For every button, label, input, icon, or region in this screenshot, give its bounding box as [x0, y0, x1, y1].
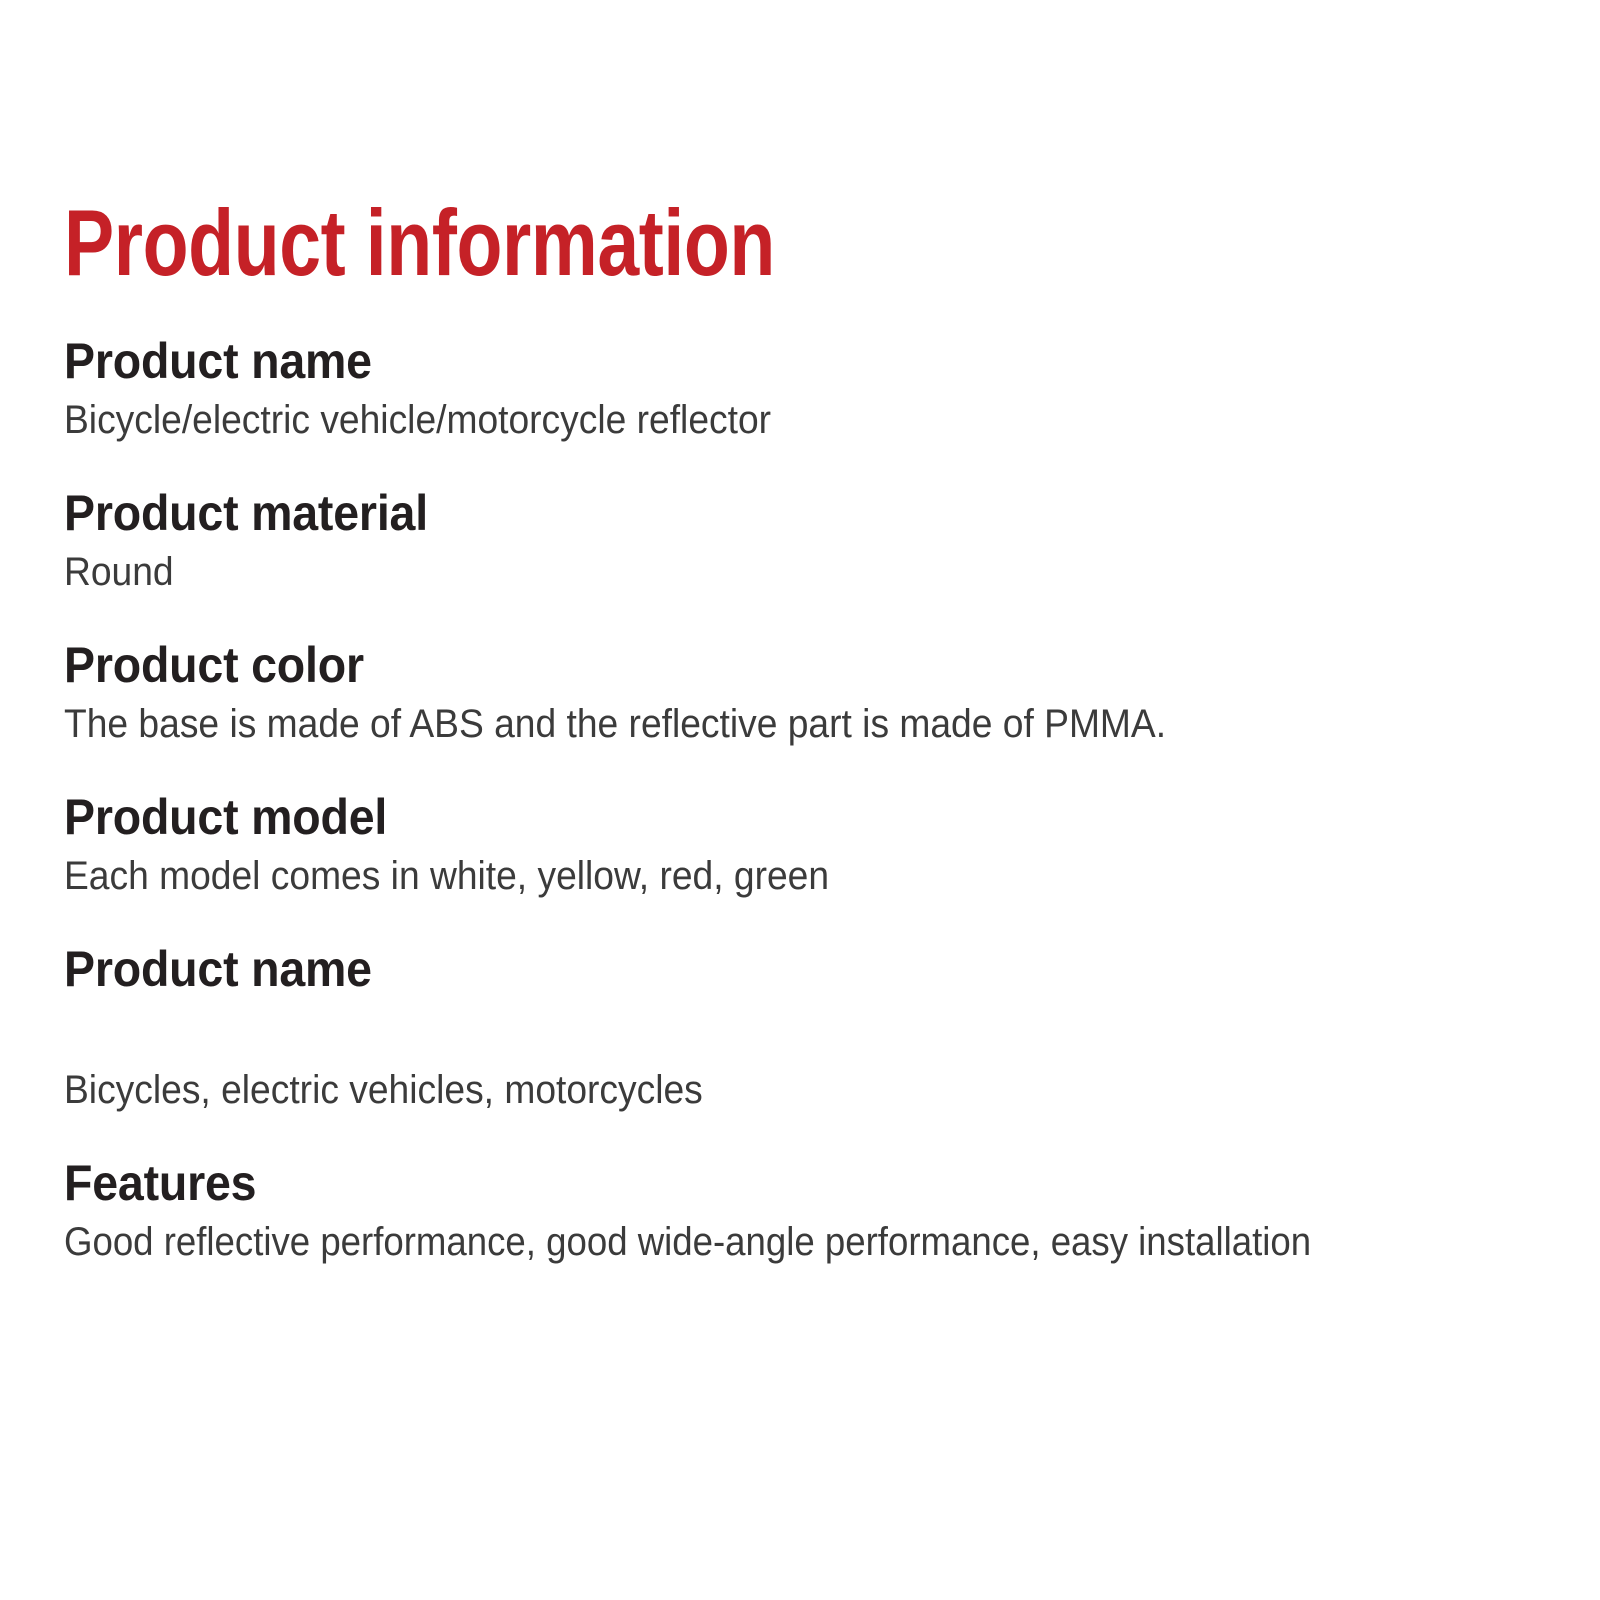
content-container: Product information Product name Bicycle… [64, 196, 1544, 1266]
section-heading-product-name: Product name [64, 334, 1440, 388]
section-heading-product-material: Product material [64, 486, 1440, 540]
page-title: Product information [64, 196, 1248, 290]
section-body-product-model: Each model comes in white, yellow, red, … [64, 852, 1440, 900]
section-product-name: Product name Bicycle/electric vehicle/mo… [64, 334, 1544, 444]
section-body-product-application: Bicycles, electric vehicles, motorcycles [64, 1066, 1440, 1114]
section-features: Features Good reflective performance, go… [64, 1156, 1544, 1266]
section-heading-product-model: Product model [64, 790, 1440, 844]
section-product-color: Product color The base is made of ABS an… [64, 638, 1544, 748]
section-heading-product-color: Product color [64, 638, 1440, 692]
section-heading-features: Features [64, 1156, 1440, 1210]
section-body-product-name: Bicycle/electric vehicle/motorcycle refl… [64, 396, 1440, 444]
section-product-material: Product material Round [64, 486, 1544, 596]
section-body-features: Good reflective performance, good wide-a… [64, 1218, 1418, 1266]
section-body-product-color: The base is made of ABS and the reflecti… [64, 700, 1440, 748]
section-heading-product-application: Product name [64, 942, 1440, 996]
section-body-product-material: Round [64, 548, 1440, 596]
section-product-model: Product model Each model comes in white,… [64, 790, 1544, 900]
product-information-page: Product information Product name Bicycle… [0, 0, 1600, 1600]
section-product-application: Product name Bicycles, electric vehicles… [64, 942, 1544, 1114]
